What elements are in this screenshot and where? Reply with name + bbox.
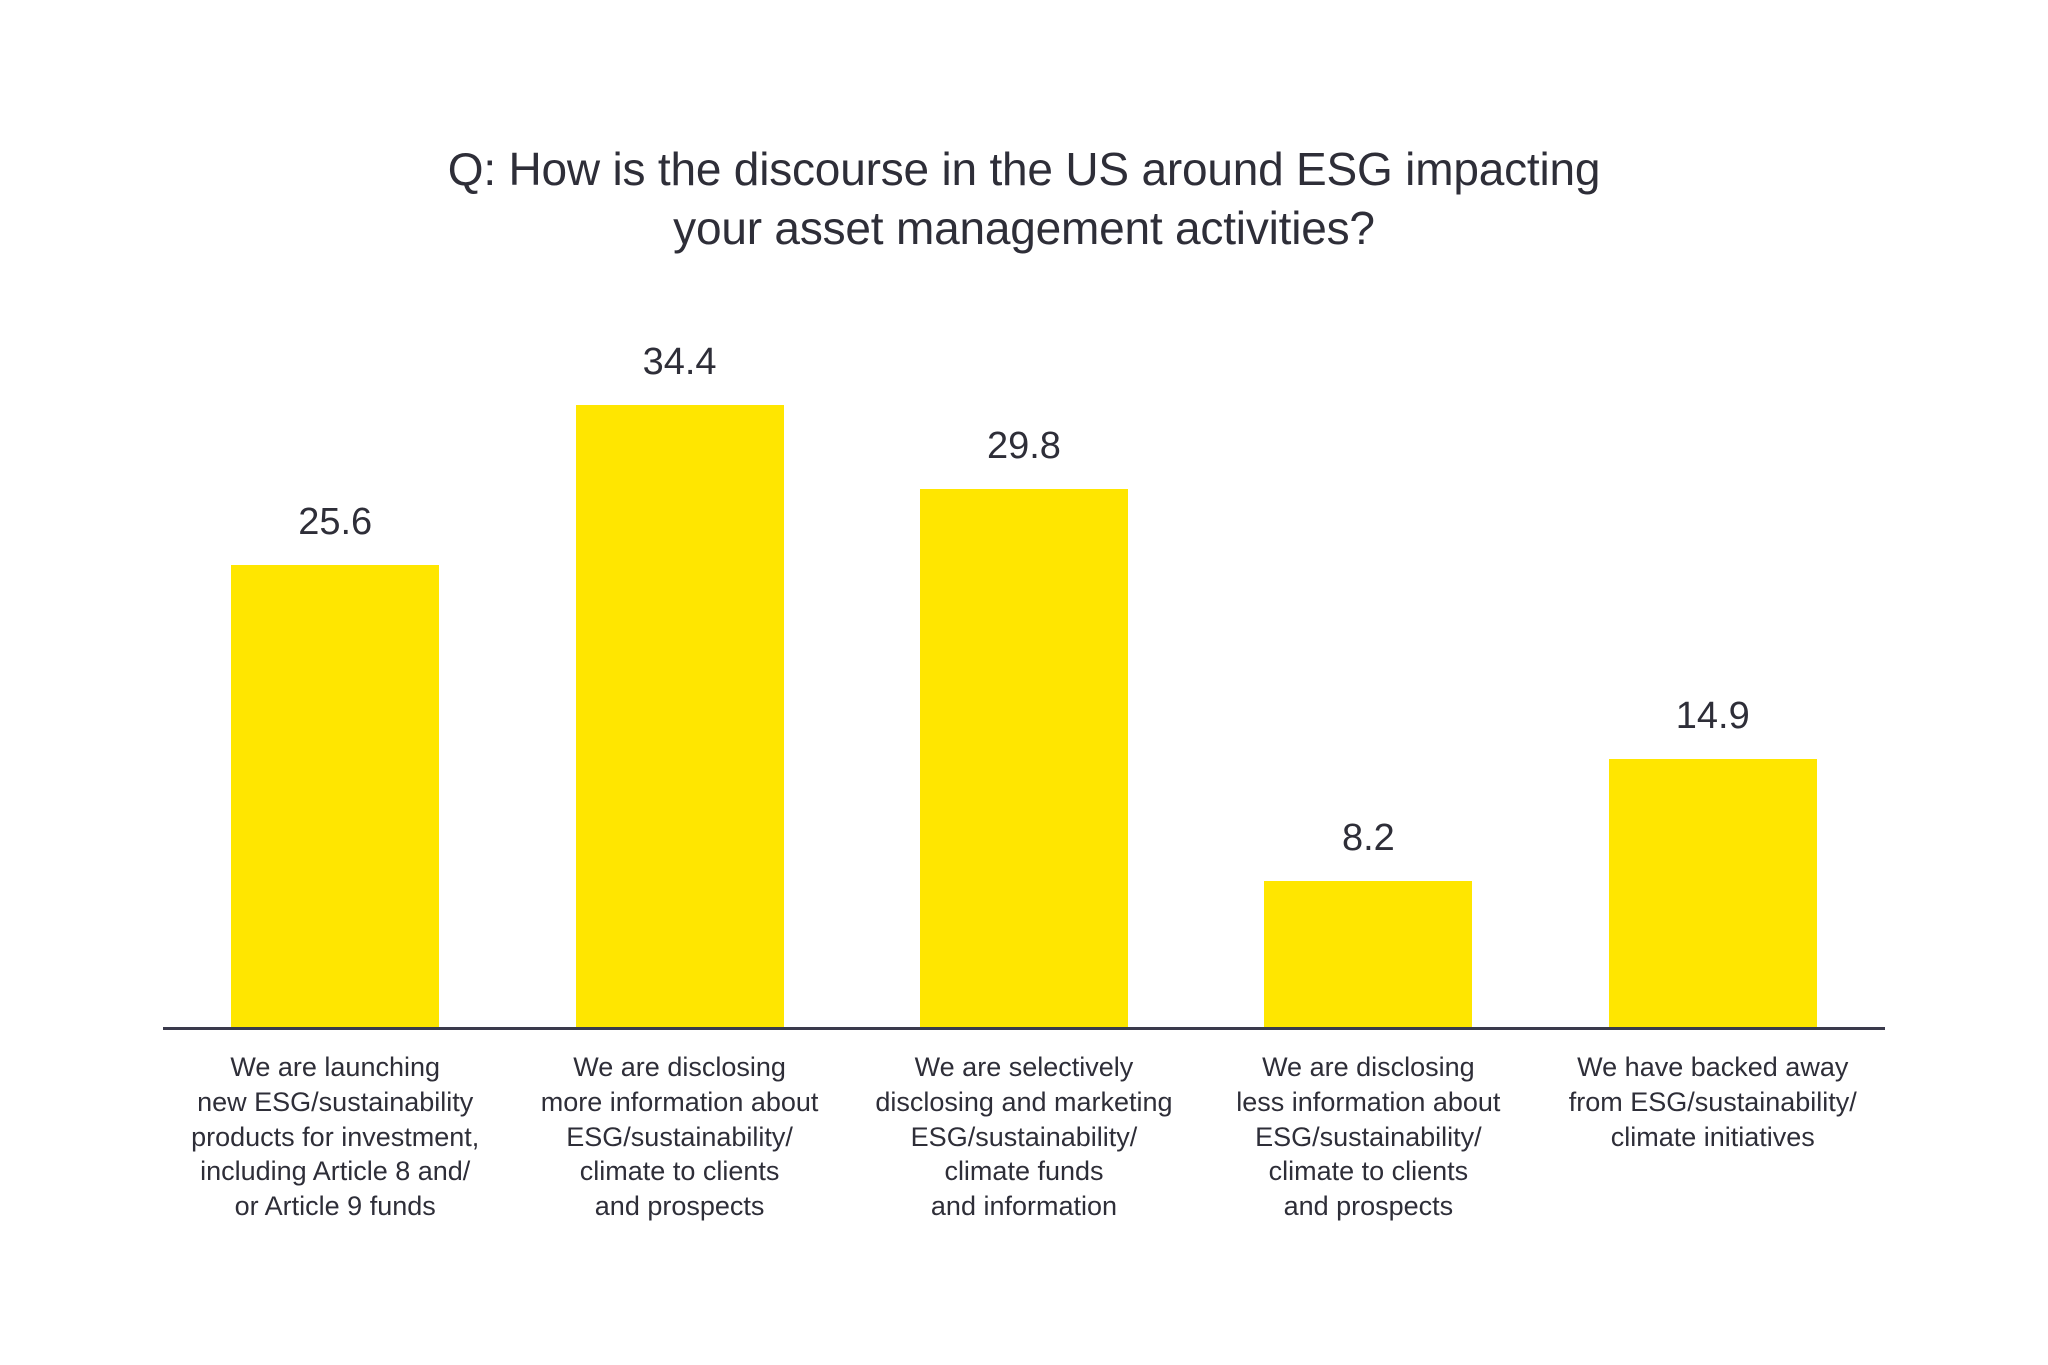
category-label-1-line-4: including Article 8 and/ (169, 1154, 501, 1189)
bar-2[interactable] (576, 405, 784, 1030)
bar-3[interactable] (920, 489, 1128, 1030)
category-label-2-line-4: climate to clients (513, 1154, 845, 1189)
category-label-1-line-5: or Article 9 funds (169, 1189, 501, 1224)
category-label-2-line-5: and prospects (513, 1189, 845, 1224)
bar-value-label-4: 8.2 (1342, 819, 1395, 857)
bar-1[interactable] (231, 565, 439, 1030)
category-label-4-line-4: climate to clients (1202, 1154, 1534, 1189)
bar-4[interactable] (1264, 881, 1472, 1030)
category-label-5-line-3: climate initiatives (1547, 1120, 1879, 1155)
category-label-3-line-3: ESG/sustainability/ (858, 1120, 1190, 1155)
category-label-1-line-1: We are launching (169, 1050, 501, 1085)
chart-page: Q: How is the discourse in the US around… (0, 0, 2048, 1365)
category-label-4-line-1: We are disclosing (1202, 1050, 1534, 1085)
x-axis-category-labels: We are launching new ESG/sustainability … (163, 1050, 1885, 1224)
bar-value-label-1: 25.6 (298, 503, 372, 541)
category-label-3-line-4: climate funds (858, 1154, 1190, 1189)
category-label-3-line-2: disclosing and marketing (858, 1085, 1190, 1120)
bar-group-4: 8.2 (1196, 330, 1540, 1030)
page-title: Q: How is the discourse in the US around… (324, 140, 1724, 259)
category-label-3-line-5: and information (858, 1189, 1190, 1224)
category-label-1: We are launching new ESG/sustainability … (163, 1050, 507, 1224)
category-label-5-line-2: from ESG/sustainability/ (1547, 1085, 1879, 1120)
bar-group-1: 25.6 (163, 330, 507, 1030)
title-line-1: Q: How is the discourse in the US around… (324, 140, 1724, 199)
bar-group-3: 29.8 (852, 330, 1196, 1030)
category-label-5-line-1: We have backed away (1547, 1050, 1879, 1085)
bar-value-label-2: 34.4 (643, 343, 717, 381)
category-label-2-line-1: We are disclosing (513, 1050, 845, 1085)
category-label-1-line-2: new ESG/sustainability (169, 1085, 501, 1120)
category-label-1-line-3: products for investment, (169, 1120, 501, 1155)
bar-group-5: 14.9 (1541, 330, 1885, 1030)
bar-series: 25.6 34.4 29.8 8.2 14.9 (163, 330, 1885, 1030)
bar-5[interactable] (1609, 759, 1817, 1030)
category-label-2-line-3: ESG/sustainability/ (513, 1120, 845, 1155)
category-label-4-line-3: ESG/sustainability/ (1202, 1120, 1534, 1155)
category-label-3-line-1: We are selectively (858, 1050, 1190, 1085)
category-label-5: We have backed away from ESG/sustainabil… (1541, 1050, 1885, 1224)
title-line-2: your asset management activities? (324, 199, 1724, 258)
bar-group-2: 34.4 (507, 330, 851, 1030)
category-label-2-line-2: more information about (513, 1085, 845, 1120)
category-label-4: We are disclosing less information about… (1196, 1050, 1540, 1224)
category-label-4-line-5: and prospects (1202, 1189, 1534, 1224)
plot-area: 25.6 34.4 29.8 8.2 14.9 (163, 330, 1885, 1030)
category-label-4-line-2: less information about (1202, 1085, 1534, 1120)
x-axis-line (163, 1027, 1885, 1030)
category-label-2: We are disclosing more information about… (507, 1050, 851, 1224)
category-label-3: We are selectively disclosing and market… (852, 1050, 1196, 1224)
bar-value-label-5: 14.9 (1676, 697, 1750, 735)
bar-value-label-3: 29.8 (987, 427, 1061, 465)
